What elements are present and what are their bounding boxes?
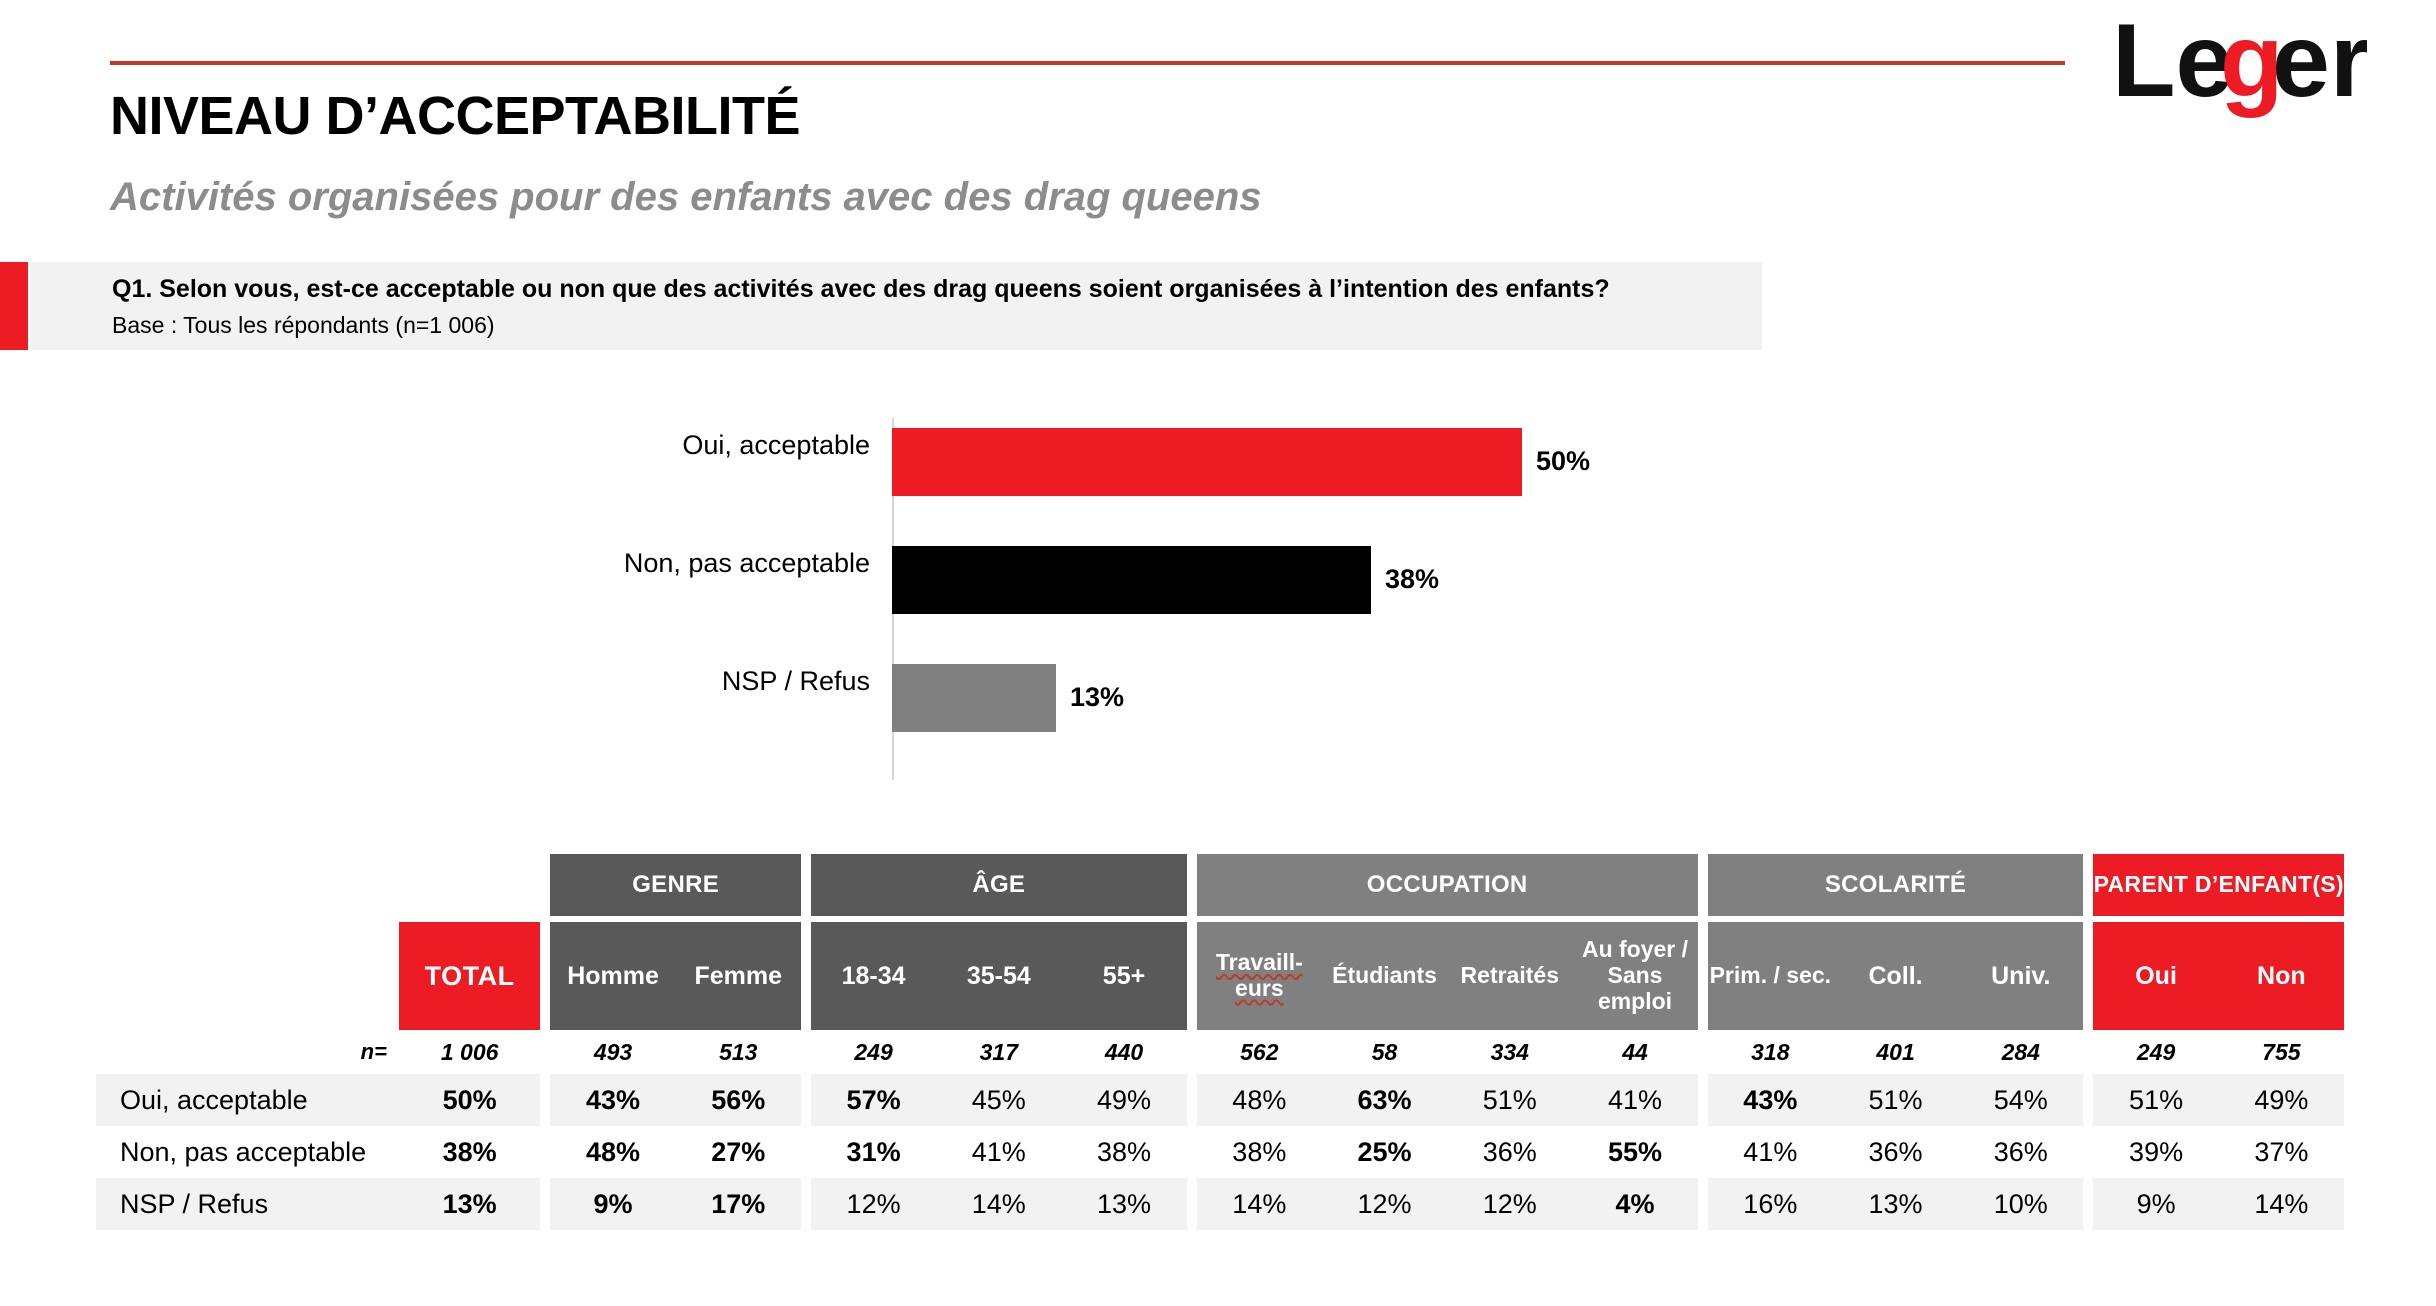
group-header-genre: GENRE: [550, 854, 800, 916]
table-row: Oui, acceptable50%43%56%57%45%49%48%63%5…: [96, 1074, 2344, 1126]
spacer: [1187, 1178, 1197, 1230]
n-coll: 401: [1833, 1030, 1958, 1074]
table-cell: 9%: [2093, 1178, 2218, 1230]
table-cell: 38%: [399, 1126, 540, 1178]
column-header-18-34: 18-34: [811, 922, 936, 1030]
spacer: [801, 854, 811, 916]
spacer: [1187, 854, 1197, 916]
crosstab-table: GENRE ÂGE OCCUPATION SCOLARITÉ PARENT D’…: [96, 854, 2344, 1230]
header-rule: [110, 61, 2065, 65]
spacer: [1187, 1030, 1197, 1074]
spacer: [1698, 1074, 1708, 1126]
table-cell: 63%: [1322, 1074, 1447, 1126]
table-cell: 43%: [1708, 1074, 1833, 1126]
bar-row: NSP / Refus 13%: [0, 642, 1762, 760]
table-cell: 51%: [1833, 1074, 1958, 1126]
column-header-homme: Homme: [550, 922, 675, 1030]
n-etudiants: 58: [1322, 1030, 1447, 1074]
table-cell: 38%: [1061, 1126, 1186, 1178]
table-cell: 13%: [1833, 1178, 1958, 1230]
table-cell: 55%: [1572, 1126, 1697, 1178]
spacer: [540, 1178, 550, 1230]
spacer: [2083, 854, 2093, 916]
crosstab: GENRE ÂGE OCCUPATION SCOLARITÉ PARENT D’…: [96, 854, 2344, 1230]
table-cell: 12%: [1447, 1178, 1572, 1230]
table-row: NSP / Refus13%9%17%12%14%13%14%12%12%4%1…: [96, 1178, 2344, 1230]
spacer: [540, 922, 550, 1030]
table-cell: 39%: [2093, 1126, 2218, 1178]
svg-text:er: er: [2272, 14, 2367, 119]
spacer: [801, 1126, 811, 1178]
n-femme: 513: [676, 1030, 801, 1074]
column-header-row: TOTAL Homme Femme 18-34 35-54 55+ Travai…: [96, 922, 2344, 1030]
table-cell: 41%: [1708, 1126, 1833, 1178]
table-cell: 9%: [550, 1178, 675, 1230]
table-cell: 27%: [676, 1126, 801, 1178]
table-cell: 17%: [676, 1178, 801, 1230]
spacer: [1187, 1074, 1197, 1126]
column-header-femme: Femme: [676, 922, 801, 1030]
group-header-occupation: OCCUPATION: [1197, 854, 1698, 916]
table-cell: 14%: [1197, 1178, 1322, 1230]
spacer: [801, 1030, 811, 1074]
spacer: [540, 1030, 550, 1074]
page-title: NIVEAU D’ACCEPTABILITÉ: [110, 88, 800, 145]
column-header-coll: Coll.: [1833, 922, 1958, 1030]
bar-segment-non: [892, 546, 1371, 614]
slide-page: NIVEAU D’ACCEPTABILITÉ Activités organis…: [0, 0, 2436, 1306]
leger-logo: Le g er: [2112, 14, 2367, 134]
group-header-parent: PARENT D’ENFANT(S): [2093, 854, 2344, 916]
column-header-au-foyer: Au foyer / Sans emploi: [1572, 922, 1697, 1030]
group-header-scolarite: SCOLARITÉ: [1708, 854, 2084, 916]
spacer: [1187, 922, 1197, 1030]
group-header-age: ÂGE: [811, 854, 1187, 916]
table-cell: 48%: [550, 1126, 675, 1178]
row-label: NSP / Refus: [96, 1178, 399, 1230]
spacer: [801, 1178, 811, 1230]
table-cell: 50%: [399, 1074, 540, 1126]
spacer: [801, 922, 811, 1030]
group-header-blank: [96, 854, 399, 916]
bar-label: Oui, acceptable: [440, 432, 870, 459]
spacer: [540, 1126, 550, 1178]
n-55plus: 440: [1061, 1030, 1186, 1074]
table-cell: 36%: [1447, 1126, 1572, 1178]
spacer: [1698, 1030, 1708, 1074]
question-body: Q1. Selon vous, est-ce acceptable ou non…: [30, 262, 1762, 350]
column-header-35-54: 35-54: [936, 922, 1061, 1030]
n-parent-non: 755: [2219, 1030, 2344, 1074]
spacer: [2083, 1178, 2093, 1230]
column-header-travailleurs: Travaill-eurs: [1197, 922, 1322, 1030]
table-cell: 49%: [1061, 1074, 1186, 1126]
table-row: Non, pas acceptable38%48%27%31%41%38%38%…: [96, 1126, 2344, 1178]
bar-value-label: 13%: [1070, 684, 1124, 711]
spacer: [1698, 854, 1708, 916]
spacer: [1698, 1126, 1708, 1178]
table-cell: 38%: [1197, 1126, 1322, 1178]
corner-cell: [96, 922, 399, 1030]
row-label: Oui, acceptable: [96, 1074, 399, 1126]
spacer: [2083, 1030, 2093, 1074]
n-univ: 284: [1958, 1030, 2083, 1074]
table-cell: 25%: [1322, 1126, 1447, 1178]
n-label: n=: [96, 1030, 399, 1074]
n-travailleurs: 562: [1197, 1030, 1322, 1074]
spacer: [540, 1074, 550, 1126]
table-cell: 57%: [811, 1074, 936, 1126]
table-cell: 48%: [1197, 1074, 1322, 1126]
n-parent-oui: 249: [2093, 1030, 2218, 1074]
n-prim-sec: 318: [1708, 1030, 1833, 1074]
spacer: [2083, 922, 2093, 1030]
table-cell: 31%: [811, 1126, 936, 1178]
row-label: Non, pas acceptable: [96, 1126, 399, 1178]
column-header-parent-oui: Oui: [2093, 922, 2218, 1030]
spacer: [540, 854, 550, 916]
spacer: [801, 1074, 811, 1126]
table-cell: 45%: [936, 1074, 1061, 1126]
group-header-total-blank: [399, 854, 540, 916]
question-accent-bar: [0, 262, 28, 350]
bar-row: Oui, acceptable 50%: [0, 406, 1762, 524]
column-header-retraites: Retraités: [1447, 922, 1572, 1030]
bar-label: NSP / Refus: [440, 668, 870, 695]
table-cell: 37%: [2219, 1126, 2344, 1178]
table-cell: 14%: [2219, 1178, 2344, 1230]
table-cell: 36%: [1958, 1126, 2083, 1178]
group-header-row: GENRE ÂGE OCCUPATION SCOLARITÉ PARENT D’…: [96, 854, 2344, 916]
table-cell: 12%: [811, 1178, 936, 1230]
question-text: Q1. Selon vous, est-ce acceptable ou non…: [112, 274, 1762, 305]
table-cell: 12%: [1322, 1178, 1447, 1230]
table-cell: 49%: [2219, 1074, 2344, 1126]
column-header-univ: Univ.: [1958, 922, 2083, 1030]
table-cell: 41%: [936, 1126, 1061, 1178]
page-subtitle: Activités organisées pour des enfants av…: [110, 175, 1262, 219]
table-cell: 13%: [399, 1178, 540, 1230]
table-cell: 16%: [1708, 1178, 1833, 1230]
bar-value-label: 50%: [1536, 448, 1590, 475]
column-header-etudiants: Étudiants: [1322, 922, 1447, 1030]
column-header-prim-sec: Prim. / sec.: [1708, 922, 1833, 1030]
question-band: Q1. Selon vous, est-ce acceptable ou non…: [0, 262, 1762, 350]
bar-label: Non, pas acceptable: [440, 550, 870, 577]
spacer: [2083, 1126, 2093, 1178]
spacer: [1698, 1178, 1708, 1230]
n-au-foyer: 44: [1572, 1030, 1697, 1074]
table-cell: 54%: [1958, 1074, 2083, 1126]
spacer: [1698, 922, 1708, 1030]
bar-segment-oui: [892, 428, 1522, 496]
bar-value-label: 38%: [1385, 566, 1439, 593]
table-cell: 4%: [1572, 1178, 1697, 1230]
column-header-travailleurs-text: Travaill-eurs: [1216, 949, 1303, 1001]
bar-chart: Oui, acceptable 50% Non, pas acceptable …: [0, 400, 1762, 790]
n-total: 1 006: [399, 1030, 540, 1074]
table-cell: 10%: [1958, 1178, 2083, 1230]
table-cell: 43%: [550, 1074, 675, 1126]
table-cell: 13%: [1061, 1178, 1186, 1230]
table-cell: 51%: [1447, 1074, 1572, 1126]
table-cell: 51%: [2093, 1074, 2218, 1126]
bar-row: Non, pas acceptable 38%: [0, 524, 1762, 642]
column-header-parent-non: Non: [2219, 922, 2344, 1030]
column-header-55plus: 55+: [1061, 922, 1186, 1030]
column-header-total: TOTAL: [399, 922, 540, 1030]
table-cell: 14%: [936, 1178, 1061, 1230]
spacer: [1187, 1126, 1197, 1178]
n-18-34: 249: [811, 1030, 936, 1074]
spacer: [2083, 1074, 2093, 1126]
n-35-54: 317: [936, 1030, 1061, 1074]
n-homme: 493: [550, 1030, 675, 1074]
table-cell: 41%: [1572, 1074, 1697, 1126]
bar-segment-nsp: [892, 664, 1056, 732]
table-cell: 36%: [1833, 1126, 1958, 1178]
question-base: Base : Tous les répondants (n=1 006): [112, 311, 1762, 340]
svg-text:Le: Le: [2112, 14, 2233, 119]
sample-size-row: n= 1 006 493 513 249 317 440 562 58 334 …: [96, 1030, 2344, 1074]
n-retraites: 334: [1447, 1030, 1572, 1074]
table-cell: 56%: [676, 1074, 801, 1126]
